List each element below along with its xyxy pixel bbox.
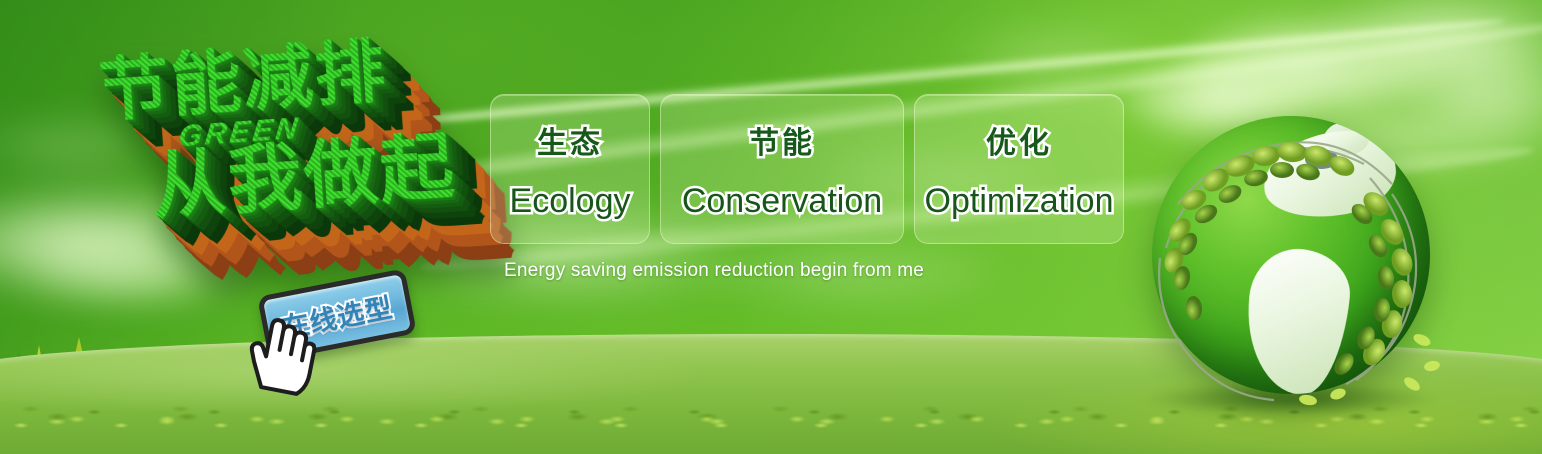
green-energy-banner: 节能减排 GREEN 从我做起 在线选型 生态 Ecology 节能 Conse…: [0, 0, 1542, 454]
feature-card-title-cn: 节能: [749, 118, 815, 162]
globe-sphere: [1152, 116, 1430, 394]
banner-tagline: Energy saving emission reduction begin f…: [504, 260, 924, 282]
headline-line-bottom: 从我做起: [150, 129, 458, 224]
continent-south-america: [1239, 245, 1354, 394]
feature-card-title-cn: 生态: [537, 118, 603, 162]
continent-detail: [1305, 149, 1338, 168]
feature-card-title-cn: 优化: [986, 118, 1052, 162]
feature-card-title-en: Optimization: [925, 182, 1114, 221]
feature-card-title-en: Ecology: [510, 182, 631, 221]
feature-card-ecology[interactable]: 生态 Ecology: [490, 94, 650, 244]
feature-card-conservation[interactable]: 节能 Conservation: [660, 94, 904, 244]
leafy-green-globe-icon: [1140, 108, 1440, 408]
feature-card-title-en: Conservation: [682, 182, 882, 221]
headline-3d: 节能减排 GREEN 从我做起: [88, 22, 503, 279]
feature-card-optimization[interactable]: 优化 Optimization: [914, 94, 1124, 244]
feature-cards: 生态 Ecology 节能 Conservation 优化 Optimizati…: [490, 94, 1124, 244]
headline-line-top: 节能减排: [97, 36, 389, 126]
